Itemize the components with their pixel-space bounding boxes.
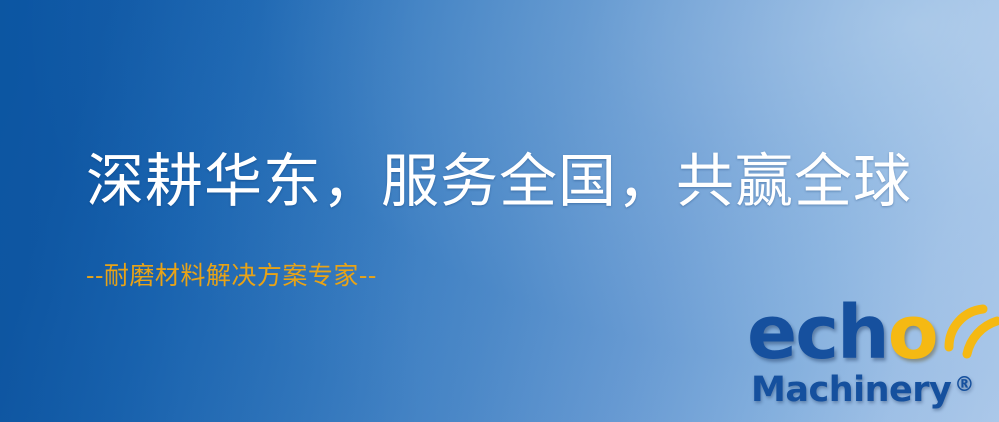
- logo-wordmark-o: o: [888, 290, 937, 376]
- logo-tagline-text: Machinery: [751, 370, 951, 410]
- logo-wordmark-ech: ech: [747, 290, 888, 376]
- echo-machinery-logo: echo Machinery®: [745, 296, 995, 420]
- banner-headline: 深耕华东，服务全国，共赢全球: [86, 152, 912, 210]
- signal-waves-icon: [943, 297, 999, 359]
- logo-tagline: Machinery®: [751, 373, 974, 408]
- registered-trademark-icon: ®: [954, 372, 974, 396]
- promotional-banner: 深耕华东，服务全国，共赢全球 --耐磨材料解决方案专家-- echo Machi…: [0, 0, 999, 422]
- banner-subheadline: --耐磨材料解决方案专家--: [86, 263, 377, 288]
- logo-wordmark: echo: [747, 296, 937, 370]
